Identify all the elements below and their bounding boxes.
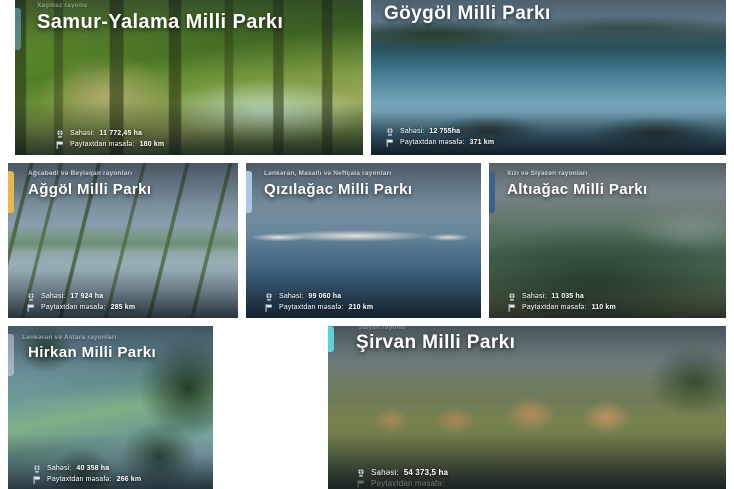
card-title: Qızılağac Milli Parkı bbox=[264, 181, 412, 198]
stat-area-label: Sahəsi: bbox=[371, 467, 399, 478]
flag-icon bbox=[356, 479, 366, 489]
stat-distance-label: Paytaxtdan məsafə: bbox=[70, 139, 135, 150]
flag-icon bbox=[32, 475, 42, 485]
card-subtitle: Ağcabədi və Beyləqan rayonları bbox=[28, 170, 132, 177]
card-accent-bar bbox=[246, 171, 252, 213]
card-stats: Sahəsi: 11 035 ha Paytaxtdan məsafə: 110… bbox=[489, 287, 726, 318]
park-card-aggol[interactable]: Ağcabədi və Beyləqan rayonları Ağgöl Mil… bbox=[8, 163, 238, 318]
card-title: Altıağac Milli Parkı bbox=[507, 181, 648, 198]
stat-area: Sahəsi: 17 924 ha bbox=[26, 291, 238, 302]
stat-area-value: 54 373,5 ha bbox=[404, 467, 448, 478]
park-card-altiagac[interactable]: Xızı və Siyəzən rayonları Altıağac Milli… bbox=[489, 163, 726, 318]
stat-distance-value: 371 km bbox=[470, 137, 495, 148]
card-accent-bar bbox=[15, 8, 21, 50]
stat-distance-value: 285 km bbox=[111, 302, 136, 313]
park-card-goygol[interactable]: Göygöl Milli Parkı Sahəsi: 12 755ha Payt… bbox=[371, 0, 726, 155]
globe-icon bbox=[26, 292, 36, 302]
stat-distance-label: Paytaxtdan məsafə: bbox=[371, 478, 444, 489]
globe-icon bbox=[32, 464, 42, 474]
flag-icon bbox=[385, 138, 395, 148]
stat-distance: Paytaxtdan məsafə: 180 km bbox=[55, 139, 363, 150]
stat-distance-label: Paytaxtdan məsafə: bbox=[279, 302, 344, 313]
card-stats: Sahəsi: 17 924 ha Paytaxtdan məsafə: 285… bbox=[8, 287, 238, 318]
park-cards-grid: Xaçmaz rayonu Samur-Yalama Milli Parkı S… bbox=[0, 0, 734, 489]
card-subtitle: Salyan rayonu bbox=[358, 326, 405, 331]
stat-area-value: 17 924 ha bbox=[70, 291, 103, 302]
stat-area: Sahəsi: 11 035 ha bbox=[507, 291, 726, 302]
stat-area-label: Sahəsi: bbox=[47, 463, 71, 474]
stat-distance: Paytaxtdan məsafə: 285 km bbox=[26, 302, 238, 313]
stat-area: Sahəsi: 54 373,5 ha bbox=[356, 467, 726, 478]
card-title: Samur-Yalama Milli Parkı bbox=[37, 11, 283, 34]
park-card-qizilagac[interactable]: Lənkəran, Masallı və Neftçala rayonları … bbox=[246, 163, 481, 318]
card-stats: Sahəsi: 99 060 ha Paytaxtdan məsafə: 210… bbox=[246, 287, 481, 318]
card-subtitle: Xaçmaz rayonu bbox=[37, 2, 87, 9]
stat-area-value: 40 358 ha bbox=[76, 463, 109, 474]
stat-distance-label: Paytaxtdan məsafə: bbox=[400, 137, 465, 148]
card-title: Şirvan Milli Parkı bbox=[356, 332, 515, 354]
globe-icon bbox=[385, 127, 395, 137]
card-accent-bar bbox=[489, 171, 495, 213]
card-subtitle: Xızı və Siyəzən rayonları bbox=[507, 170, 588, 177]
card-subtitle: Lənkəran, Masallı və Neftçala rayonları bbox=[264, 170, 391, 177]
stat-distance-value: 210 km bbox=[349, 302, 374, 313]
stat-area-value: 11 035 ha bbox=[551, 291, 584, 302]
card-stats: Sahəsi: 11 772,45 ha Paytaxtdan məsafə: … bbox=[15, 124, 363, 155]
park-card-hirkan[interactable]: Lənkəran və Astara rayonları Hirkan Mill… bbox=[8, 326, 213, 489]
stat-distance: Paytaxtdan məsafə: 266 km bbox=[32, 474, 213, 485]
stat-distance: Paytaxtdan məsafə: 110 km bbox=[507, 302, 726, 313]
card-stats: Sahəsi: 40 358 ha Paytaxtdan məsafə: 266… bbox=[8, 459, 213, 489]
stat-area-label: Sahəsi: bbox=[522, 291, 546, 302]
park-card-samur-yalama[interactable]: Xaçmaz rayonu Samur-Yalama Milli Parkı S… bbox=[15, 0, 363, 155]
flag-icon bbox=[264, 303, 274, 313]
card-subtitle: Lənkəran və Astara rayonları bbox=[22, 334, 117, 341]
stat-area: Sahəsi: 40 358 ha bbox=[32, 463, 213, 474]
stat-area: Sahəsi: 12 755ha bbox=[385, 126, 726, 137]
stat-distance: Paytaxtdan məsafə: 371 km bbox=[385, 137, 726, 148]
card-accent-bar bbox=[8, 334, 14, 376]
globe-icon bbox=[507, 292, 517, 302]
stat-area-label: Sahəsi: bbox=[70, 128, 94, 139]
stat-distance-label: Paytaxtdan məsafə: bbox=[522, 302, 587, 313]
stat-distance-value: 180 km bbox=[140, 139, 165, 150]
stat-area: Sahəsi: 99 060 ha bbox=[264, 291, 481, 302]
stat-distance-label: Paytaxtdan məsafə: bbox=[47, 474, 112, 485]
card-stats: Sahəsi: 12 755ha Paytaxtdan məsafə: 371 … bbox=[371, 122, 726, 155]
card-stats: Sahəsi: 54 373,5 ha Paytaxtdan məsafə: bbox=[328, 463, 726, 489]
globe-icon bbox=[264, 292, 274, 302]
card-title: Göygöl Milli Parkı bbox=[384, 3, 551, 25]
stat-distance-value: 110 km bbox=[592, 302, 616, 313]
stat-distance: Paytaxtdan məsafə: 210 km bbox=[264, 302, 481, 313]
flag-icon bbox=[55, 140, 65, 150]
card-title: Ağgöl Milli Parkı bbox=[28, 181, 151, 198]
park-card-sirvan[interactable]: Salyan rayonu Şirvan Milli Parkı Sahəsi:… bbox=[328, 326, 726, 489]
card-accent-bar bbox=[8, 171, 14, 213]
card-accent-bar bbox=[328, 326, 334, 352]
stat-distance: Paytaxtdan məsafə: bbox=[356, 478, 726, 489]
globe-icon bbox=[356, 468, 366, 478]
stat-area-label: Sahəsi: bbox=[279, 291, 303, 302]
stat-area: Sahəsi: 11 772,45 ha bbox=[55, 128, 363, 139]
card-title: Hirkan Milli Parkı bbox=[28, 344, 156, 361]
stat-area-value: 12 755ha bbox=[429, 126, 460, 137]
stat-area-value: 99 060 ha bbox=[308, 291, 341, 302]
flag-icon bbox=[507, 303, 517, 313]
stat-area-label: Sahəsi: bbox=[400, 126, 424, 137]
stat-area-label: Sahəsi: bbox=[41, 291, 65, 302]
stat-distance-label: Paytaxtdan məsafə: bbox=[41, 302, 106, 313]
flag-icon bbox=[26, 303, 36, 313]
stat-area-value: 11 772,45 ha bbox=[99, 128, 142, 139]
stat-distance-value: 266 km bbox=[117, 474, 142, 485]
globe-icon bbox=[55, 129, 65, 139]
